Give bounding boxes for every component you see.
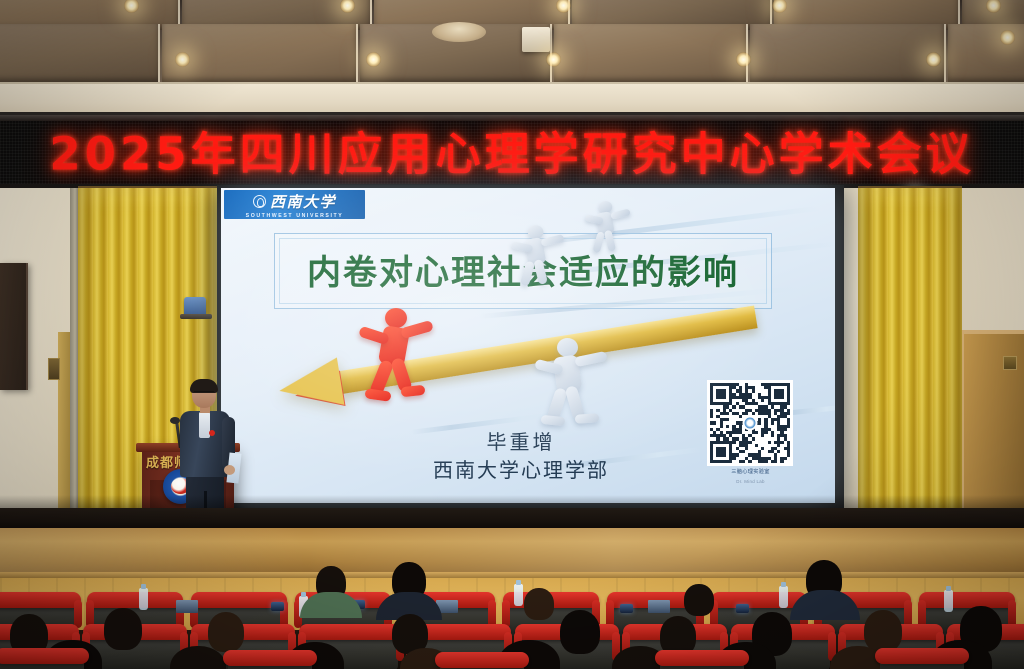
smartphone[interactable] [736,604,749,613]
projection-screen: 西南大学 SOUTHWEST UNIVERSITY 内卷对心理社会适应的影响 [221,188,835,503]
presenter-name: 毕重增 [341,426,701,455]
audience-head [104,608,142,650]
audience-seat[interactable] [440,656,524,669]
ceiling-panel [554,24,748,82]
wall-plate-left [48,358,60,380]
audience-head [864,610,902,652]
audience-seat[interactable] [228,654,312,669]
audience-seat[interactable] [660,654,744,669]
audience-head [684,584,714,616]
ceiling-downlight [1000,30,1015,45]
stage-floor [0,528,1024,576]
qr-code-block[interactable]: 三脑心理实验室 Dr. Mind Lab [699,380,802,498]
ceiling-dome-fixture [432,22,486,42]
door-plate-icon [1003,356,1017,370]
ceiling-downlight [926,52,941,67]
laptop[interactable] [176,600,198,613]
runner-figure-red [361,308,441,408]
presenter-affiliation: 西南大学心理学部 [341,454,701,483]
smartphone[interactable] [620,604,633,613]
audience-head [524,588,554,620]
ceiling-panel [0,24,160,82]
ceiling-downlight [736,52,751,67]
ceiling-downlight [175,52,190,67]
ceiling-panel [750,24,946,82]
audience-head [560,610,600,654]
led-banner: 2025年四川应用心理学研究中心学术会议 [0,112,1024,188]
led-banner-text: 2025年四川应用心理学研究中心学术会议 [0,117,1024,182]
ceiling-downlight [366,52,381,67]
ceiling [0,0,1024,118]
university-seal-icon [253,195,266,208]
qr-code[interactable] [707,380,793,466]
gold-arrow-head [276,357,345,414]
water-bottle [514,584,523,606]
stage-front-face [0,508,1024,530]
smartphone[interactable] [271,602,284,611]
audience-seat[interactable] [880,652,964,669]
runner-figure-gray [515,225,567,291]
university-logo-en: SOUTHWEST UNIVERSITY [246,213,344,219]
laptop[interactable] [648,600,670,613]
ceiling-panel-row-lower [0,24,1024,82]
university-logo: 西南大学 SOUTHWEST UNIVERSITY [224,190,365,219]
water-bottle [779,586,788,608]
university-logo-cn: 西南大学 [270,191,336,212]
glasses-icon [194,391,214,396]
qr-center-logo-icon [743,416,758,431]
water-bottle [944,590,953,612]
audience-seat[interactable] [0,652,84,669]
qr-caption: 三脑心理实验室 [699,468,802,475]
lapel-badge-icon [209,430,215,436]
wall-speaker-panel-left [0,263,28,390]
ceiling-downlight [546,52,561,67]
stage-curtain-right [858,188,962,540]
conference-hall-photo: 2025年四川应用心理学研究中心学术会议 西南大学 SOUTHWEST UNIV… [0,0,1024,669]
qr-caption-en: Dr. Mind Lab [699,479,802,484]
ceiling-projector-box [522,27,550,52]
audience-head [208,612,244,652]
water-bottle [139,588,148,610]
runner-figure-gray [539,338,619,438]
ceiling-panel [162,24,358,82]
wall-mounted-lamp-icon [184,297,206,315]
runner-figure-gray [588,201,632,255]
wall-mounted-lamp-bracket [180,314,212,319]
